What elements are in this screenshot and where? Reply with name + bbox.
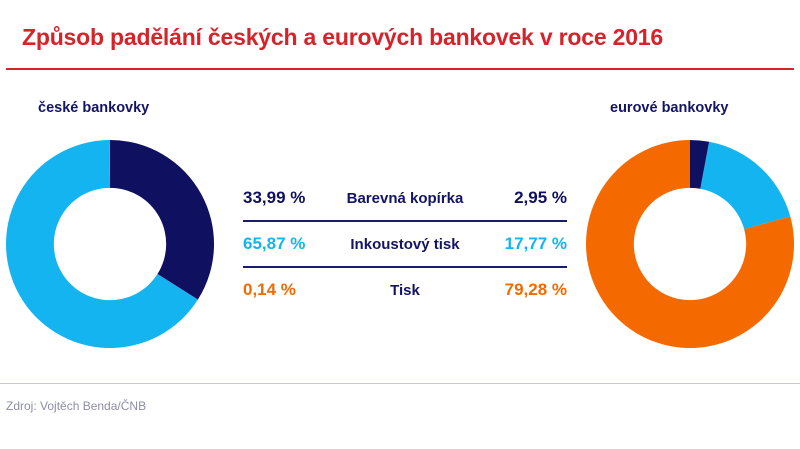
legend-value-euro-inkoustovy-tisk: 17,77 % — [481, 234, 567, 254]
legend-row-inkoustovy-tisk: 65,87 % Inkoustový tisk 17,77 % — [243, 220, 567, 266]
legend-row-barevna-kopirka: 33,99 % Barevná kopírka 2,95 % — [243, 176, 567, 220]
legend-value-euro-tisk: 79,28 % — [481, 280, 567, 300]
donut-slice-1 — [110, 140, 214, 300]
legend-value-czech-barevna-kopirka: 33,99 % — [243, 188, 329, 208]
donut-chart-czech — [5, 139, 215, 349]
chart-label-euro: eurové bankovky — [610, 100, 728, 116]
legend-row-tisk: 0,14 % Tisk 79,28 % — [243, 266, 567, 312]
source-caption: Zdroj: Vojtěch Benda/ČNB — [6, 399, 146, 413]
legend-label-tisk: Tisk — [329, 282, 481, 299]
legend-value-czech-tisk: 0,14 % — [243, 280, 329, 300]
title-divider — [6, 68, 794, 70]
page-title: Způsob padělání českých a eurových banko… — [22, 24, 663, 51]
chart-label-czech: české bankovky — [38, 100, 149, 116]
legend-label-inkoustovy-tisk: Inkoustový tisk — [329, 236, 481, 253]
legend-table: 33,99 % Barevná kopírka 2,95 % 65,87 % I… — [243, 176, 567, 312]
donut-svg-euro — [585, 139, 795, 349]
legend-value-euro-barevna-kopirka: 2,95 % — [481, 188, 567, 208]
legend-value-czech-inkoustovy-tisk: 65,87 % — [243, 234, 329, 254]
legend-label-barevna-kopirka: Barevná kopírka — [329, 190, 481, 207]
infographic-root: Způsob padělání českých a eurových banko… — [0, 0, 800, 449]
donut-slice-2 — [700, 142, 790, 229]
footer-divider — [0, 383, 800, 384]
donut-svg-czech — [5, 139, 215, 349]
donut-chart-euro — [585, 139, 795, 349]
